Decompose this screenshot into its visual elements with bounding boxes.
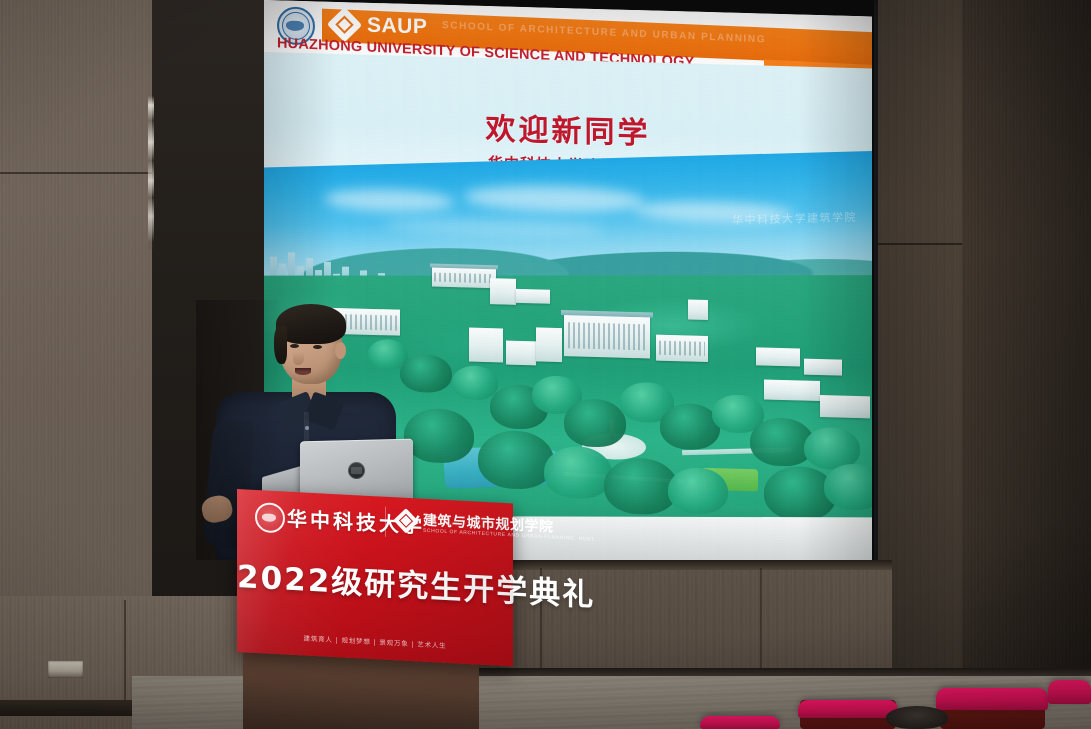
wall-light-strip (148, 96, 154, 250)
campus-building (506, 341, 536, 366)
campus-building-windows (568, 322, 646, 350)
podium-slogan: 建筑育人 | 规划梦想 | 景观万象 | 艺术人生 (237, 629, 513, 653)
hust-seal-icon (255, 502, 285, 534)
tree-cluster (452, 365, 498, 400)
saup-abbreviation: SAUP (367, 14, 427, 40)
tree-cluster (660, 403, 720, 451)
tree-cluster (544, 446, 612, 500)
speaker-nose (293, 352, 304, 365)
campus-building (756, 347, 800, 366)
campus-building (804, 359, 842, 376)
campus-building (516, 289, 550, 304)
campus-building-windows (659, 341, 705, 356)
tree-cluster (604, 457, 678, 515)
ceremony-title: 2022级研究生开学典礼 (237, 551, 513, 610)
speaker-hair-side (274, 326, 287, 364)
wall-seam (124, 600, 126, 706)
wall-plate (48, 661, 83, 678)
wall-seam (0, 172, 152, 174)
auditorium-photo-scene: SAUP SCHOOL OF ARCHITECTURE AND URBAN PL… (0, 0, 1091, 729)
campus-building (490, 278, 516, 305)
speaker-eye (290, 344, 299, 348)
campus-building (820, 395, 870, 418)
right-wall-shadow (878, 0, 1091, 700)
campus-building (469, 328, 503, 363)
audience-head-silhouette (886, 706, 948, 729)
auditorium-seat[interactable] (700, 716, 780, 729)
campus-building (764, 380, 820, 402)
speaker-eye (313, 345, 322, 349)
campus-building (688, 299, 708, 320)
auditorium-seat[interactable] (798, 700, 898, 718)
speaker-ear (335, 342, 346, 359)
tree-cluster (668, 467, 728, 515)
tree-cluster (564, 398, 626, 448)
podium-banner: 华中科技大学 建筑与城市规划学院 SCHOOL OF ARCHITECTURE … (237, 489, 513, 666)
auditorium-seat[interactable] (936, 688, 1048, 710)
campus-building-windows (434, 273, 492, 284)
speaker-mouth (295, 368, 311, 375)
podium-divider (385, 507, 386, 537)
campus-building (536, 327, 562, 362)
dell-logo-icon (348, 462, 365, 479)
shirt-button (305, 426, 309, 430)
auditorium-seat[interactable] (1048, 680, 1091, 704)
